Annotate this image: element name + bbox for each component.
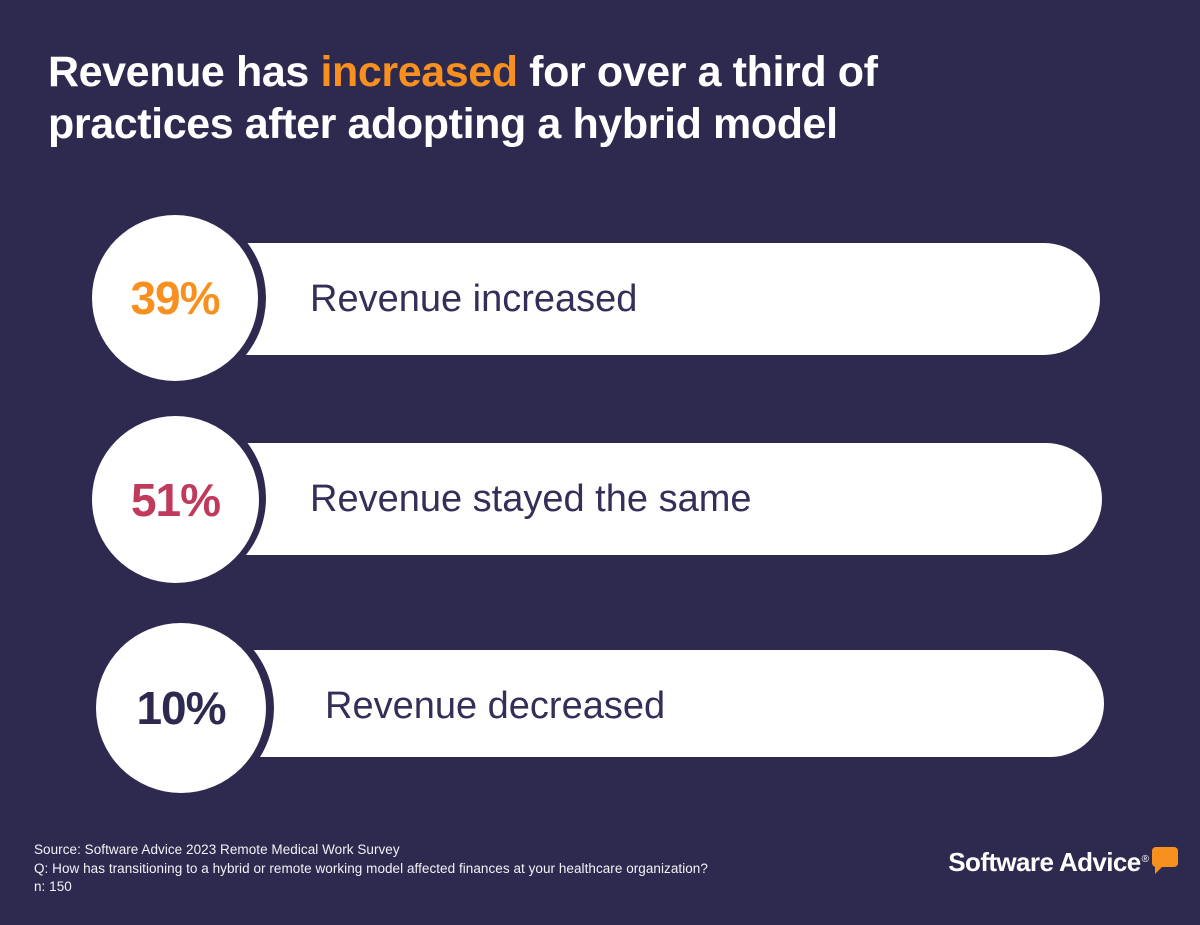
registered-trademark-icon: ® (1142, 845, 1149, 877)
stat-label: Revenue stayed the same (310, 478, 752, 521)
software-advice-logo: Software Advice ® (948, 843, 1178, 877)
footer-question-line: Q: How has transitioning to a hybrid or … (34, 860, 708, 879)
page-title: Revenue has increased for over a third o… (48, 46, 1048, 150)
title-part-before: Revenue has (48, 48, 320, 96)
stat-label: Revenue increased (310, 278, 637, 321)
stat-row: 10% Revenue decreased (0, 623, 1200, 791)
percent-bubble: 39% (92, 215, 258, 381)
stat-row: 39% Revenue increased (0, 215, 1200, 381)
title-highlight-word: increased (320, 48, 517, 96)
stat-row: 51% Revenue stayed the same (0, 416, 1200, 582)
footer-source-line: Source: Software Advice 2023 Remote Medi… (34, 841, 708, 860)
percent-value: 39% (130, 275, 219, 321)
percent-value: 51% (131, 477, 220, 523)
percent-bubble: 10% (96, 623, 266, 793)
speech-bubble-icon (1152, 847, 1178, 867)
footer-source-block: Source: Software Advice 2023 Remote Medi… (34, 841, 708, 897)
percent-value: 10% (136, 685, 225, 731)
stat-label: Revenue decreased (325, 685, 665, 728)
footer-sample-size: n: 150 (34, 878, 708, 897)
percent-bubble: 51% (92, 416, 259, 583)
infographic-canvas: Revenue has increased for over a third o… (0, 0, 1200, 925)
logo-wordmark: Software Advice (948, 847, 1140, 877)
